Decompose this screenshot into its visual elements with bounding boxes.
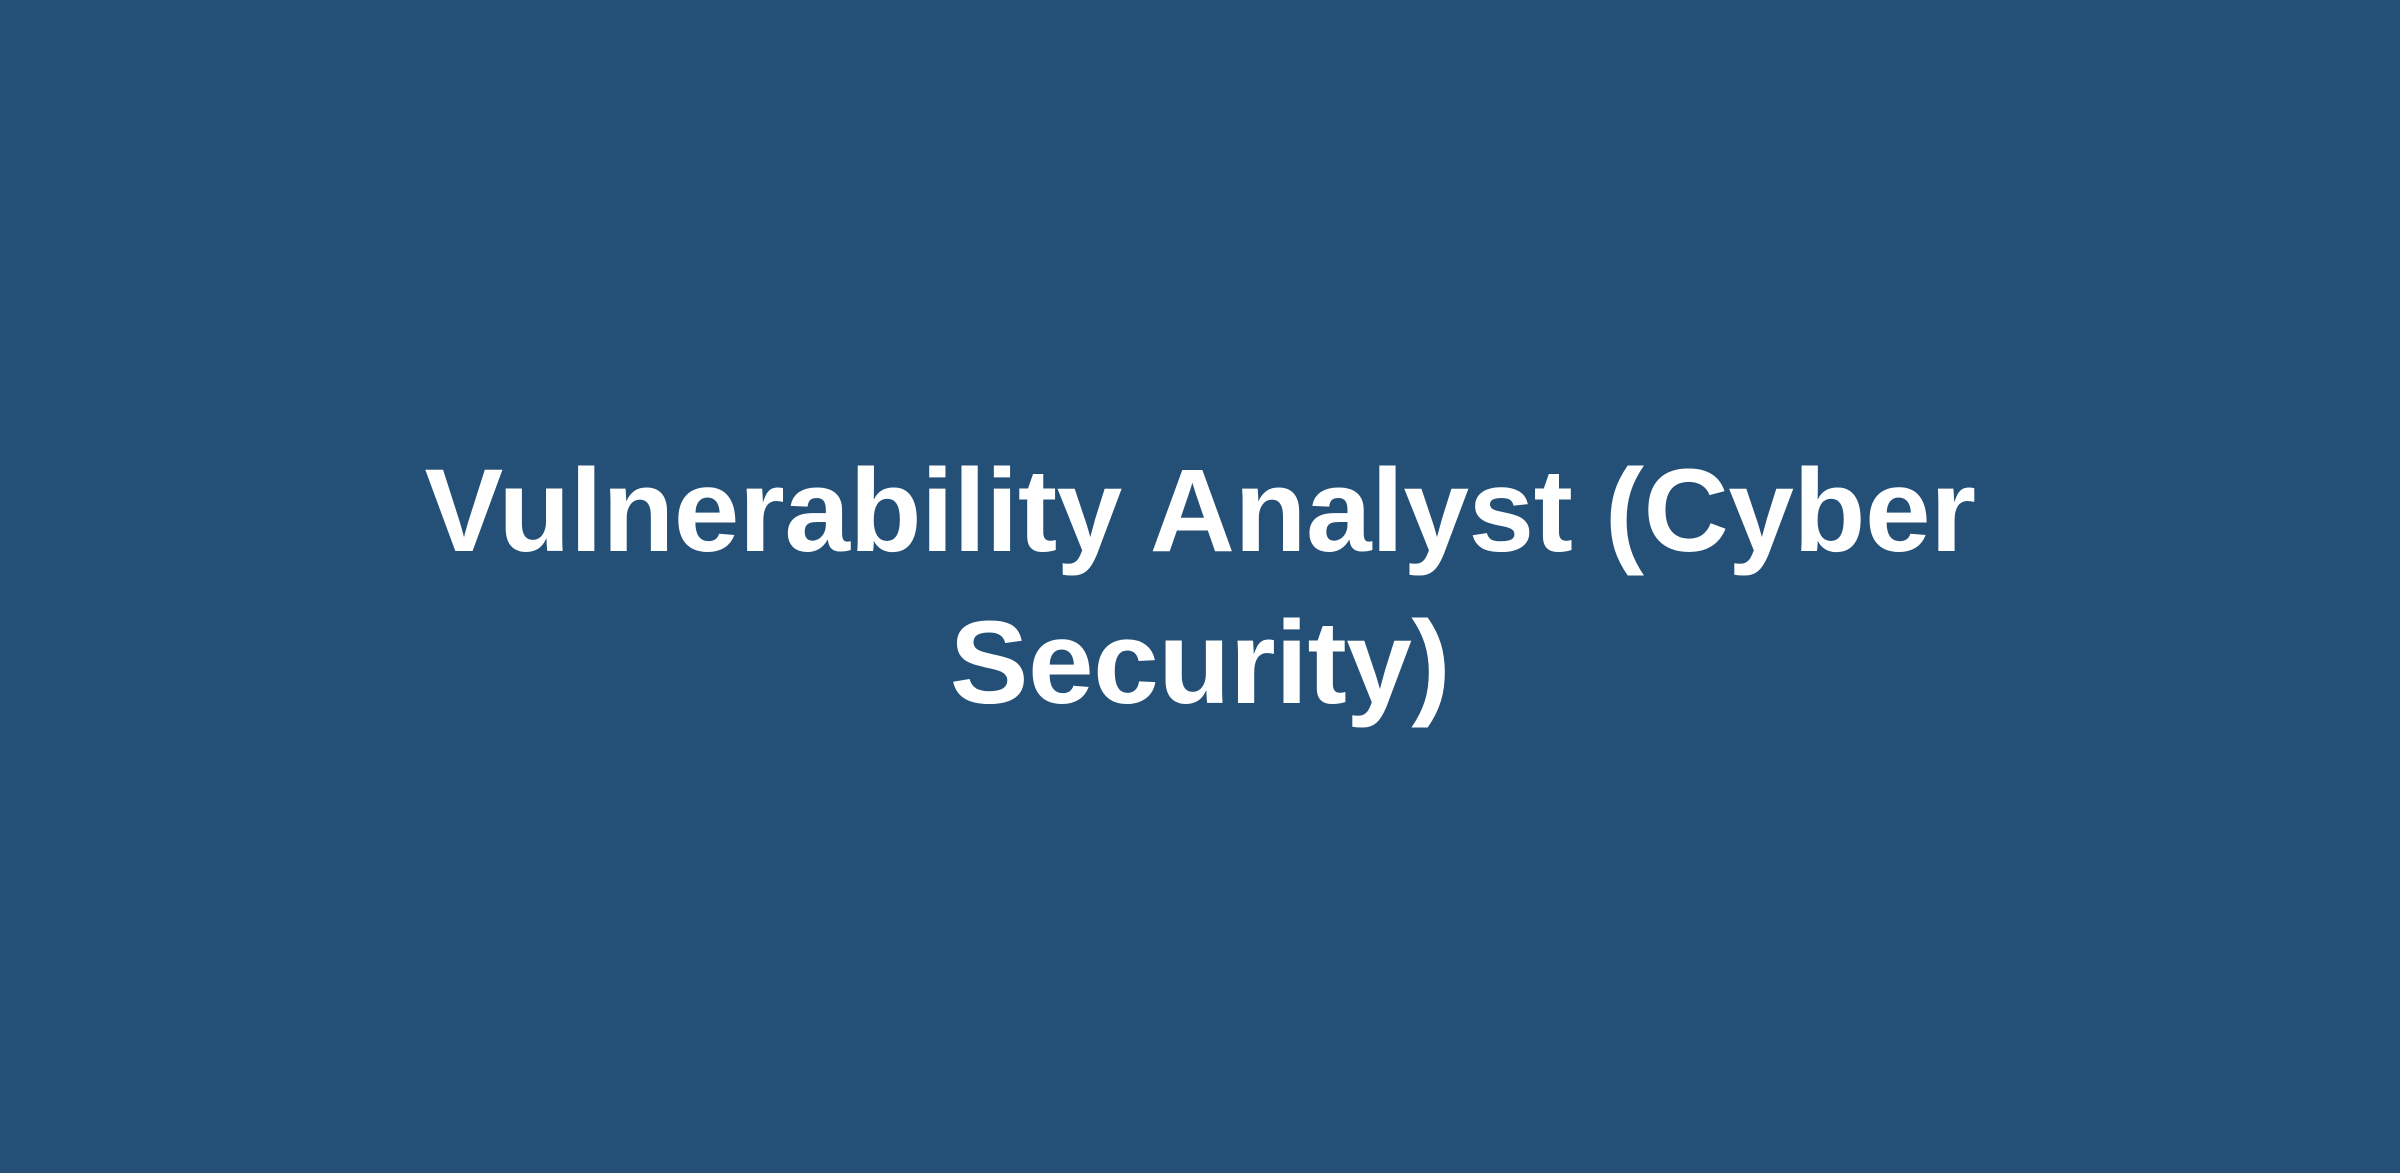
title-banner: Vulnerability Analyst (Cyber Security) <box>0 0 2400 1173</box>
title-banner-content: Vulnerability Analyst (Cyber Security) <box>320 435 2080 739</box>
page-title: Vulnerability Analyst (Cyber Security) <box>320 435 2080 739</box>
